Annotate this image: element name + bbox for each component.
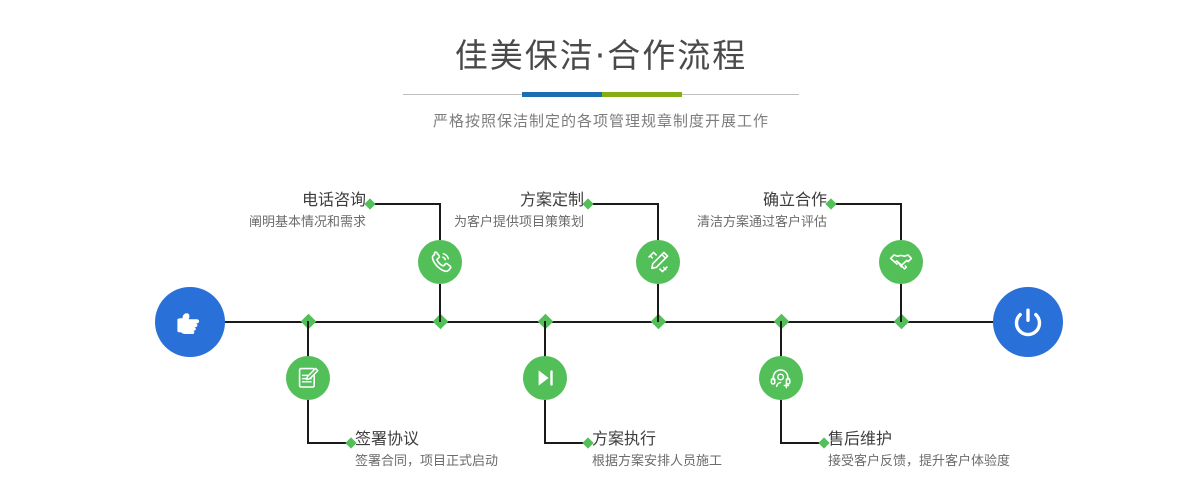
- timeline-end-endpoint: [993, 287, 1063, 357]
- handshake-icon: [888, 249, 914, 275]
- page-header: 佳美保洁·合作流程 严格按照保洁制定的各项管理规章制度开展工作: [0, 34, 1202, 132]
- step-desc: 根据方案安排人员施工: [592, 452, 722, 472]
- step-desc: 阐明基本情况和需求: [180, 213, 366, 233]
- timeline-leader: [831, 203, 901, 205]
- title-divider: [403, 89, 799, 101]
- timeline-stem: [780, 321, 782, 357]
- step-icon-circle-3[interactable]: [636, 240, 680, 284]
- step-desc: 签署合同，项目正式启动: [355, 452, 498, 472]
- step-desc: 清洁方案通过客户评估: [645, 213, 827, 233]
- step-title: 确立合作: [645, 189, 827, 211]
- divider-segment-blue: [522, 92, 602, 97]
- flowchart-page: 佳美保洁·合作流程 严格按照保洁制定的各项管理规章制度开展工作: [0, 0, 1202, 502]
- timeline-stem: [780, 400, 782, 444]
- power-icon: [1008, 302, 1048, 342]
- timeline-stem: [307, 400, 309, 444]
- timeline-stem: [544, 321, 546, 357]
- step-title: 电话咨询: [180, 189, 366, 211]
- pencil-ruler-icon: [645, 249, 671, 275]
- page-title: 佳美保洁·合作流程: [0, 34, 1202, 78]
- step-icon-circle-4[interactable]: [523, 356, 567, 400]
- divider-segment-green: [602, 92, 682, 97]
- timeline-stem: [900, 203, 902, 240]
- leader-end-marker: [364, 198, 375, 209]
- document-edit-icon: [295, 365, 321, 391]
- step-title: 方案定制: [400, 189, 584, 211]
- step-label-2: 签署协议 签署合同，项目正式启动: [355, 428, 498, 472]
- timeline-stem: [439, 284, 441, 322]
- timeline-stem: [900, 284, 902, 322]
- step-label-1: 电话咨询 阐明基本情况和需求: [180, 189, 366, 233]
- timeline-stem: [657, 284, 659, 322]
- step-title: 方案执行: [592, 428, 722, 450]
- step-icon-circle-2[interactable]: [286, 356, 330, 400]
- step-icon-circle-1[interactable]: [418, 240, 462, 284]
- step-desc: 为客户提供项目策策划: [400, 213, 584, 233]
- step-title: 签署协议: [355, 428, 498, 450]
- timeline-stem: [544, 400, 546, 444]
- phone-call-icon: [427, 249, 453, 275]
- step-label-6: 售后维护 接受客户反馈，提升客户体验度: [828, 428, 1010, 472]
- play-execute-icon: [532, 365, 558, 391]
- step-label-4: 方案执行 根据方案安排人员施工: [592, 428, 722, 472]
- headset-support-icon: [768, 365, 794, 391]
- step-label-5: 确立合作 清洁方案通过客户评估: [645, 189, 827, 233]
- timeline-stem: [307, 321, 309, 357]
- step-icon-circle-5[interactable]: [879, 240, 923, 284]
- leader-end-marker: [825, 198, 836, 209]
- step-desc: 接受客户反馈，提升客户体验度: [828, 452, 1010, 472]
- step-label-3: 方案定制 为客户提供项目策策划: [400, 189, 584, 233]
- step-icon-circle-6[interactable]: [759, 356, 803, 400]
- step-title: 售后维护: [828, 428, 1010, 450]
- page-subtitle: 严格按照保洁制定的各项管理规章制度开展工作: [0, 110, 1202, 132]
- leader-end-marker: [582, 198, 593, 209]
- timeline-start-endpoint: [155, 287, 225, 357]
- pointing-hand-icon: [170, 302, 210, 342]
